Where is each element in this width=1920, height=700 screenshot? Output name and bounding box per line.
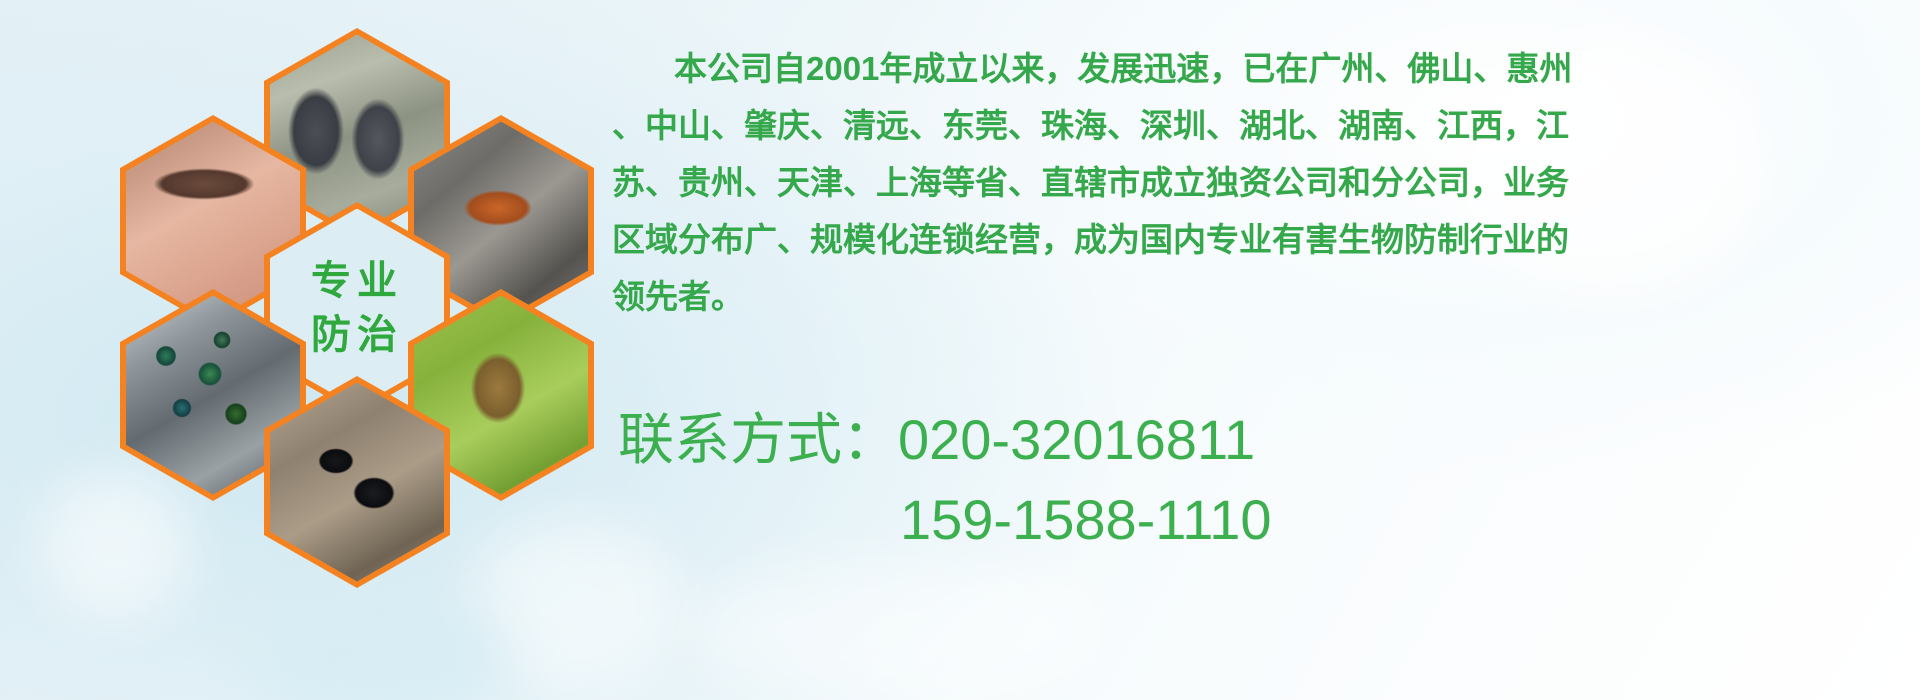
about-line: 本公司自2001年成立以来，发展迅速，已在广州、佛山、惠州	[612, 40, 1882, 97]
contact-primary-row: 联系方式：020-32016811	[618, 400, 1888, 480]
about-line: 苏、贵州、天津、上海等省、直辖市成立独资公司和分公司，业务	[612, 154, 1882, 211]
ant-photo	[270, 383, 444, 582]
about-line: 、中山、肇庆、清远、东莞、珠海、深圳、湖北、湖南、江西，江	[612, 97, 1882, 154]
phone-primary[interactable]: 020-32016811	[898, 408, 1255, 471]
contact-secondary-row: 159-1588-1110	[618, 480, 1888, 560]
hex-photo-cluster: 专业 防治	[90, 10, 590, 570]
about-line: 区域分布广、规模化连锁经营，成为国内专业有害生物防制行业的	[612, 211, 1882, 268]
phone-secondary[interactable]: 159-1588-1110	[900, 488, 1272, 551]
bokeh-blob	[690, 560, 1110, 700]
badge-line-2: 防治	[311, 308, 403, 362]
bokeh-blob	[250, 590, 510, 700]
banner-canvas: 专业 防治 本公司自2001年成立以来，发展迅速，已在广州、佛山、惠州 、中山、…	[0, 0, 1920, 700]
contact-block: 联系方式：020-32016811 159-1588-1110	[618, 400, 1888, 560]
contact-label: 联系方式：	[618, 408, 898, 471]
about-paragraph: 本公司自2001年成立以来，发展迅速，已在广州、佛山、惠州 、中山、肇庆、清远、…	[612, 40, 1882, 325]
about-line: 领先者。	[612, 268, 1882, 325]
badge-line-1: 专业	[311, 254, 403, 308]
